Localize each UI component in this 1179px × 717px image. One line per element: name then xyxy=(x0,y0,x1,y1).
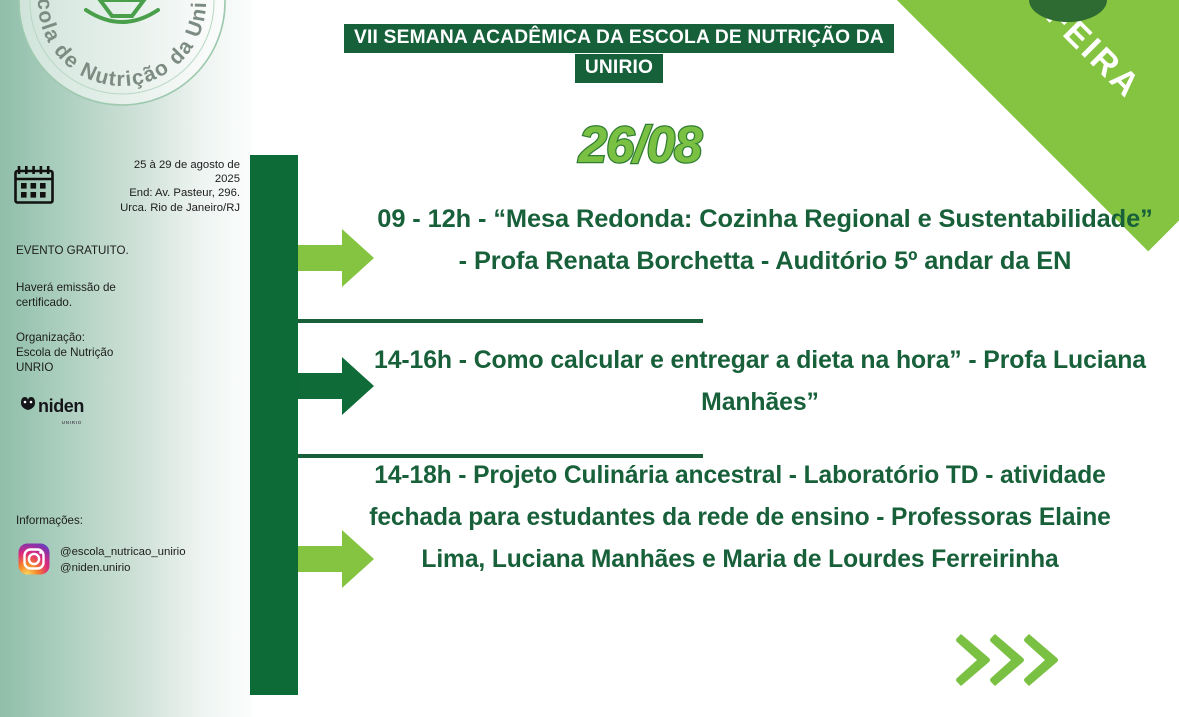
date-line-4: Urca. Rio de Janeiro/RJ xyxy=(62,201,240,215)
date-headline: 26/08 xyxy=(430,115,850,174)
event-1-text: 09 - 12h - “Mesa Redonda: Cozinha Region… xyxy=(370,198,1160,282)
certificate-note: Haverá emissão de certificado. xyxy=(16,280,231,310)
free-event-note: EVENTO GRATUITO. xyxy=(16,243,231,258)
instagram-icon[interactable] xyxy=(18,543,50,580)
niden-wordmark: niden UNIRIO xyxy=(38,397,84,415)
niden-name: niden xyxy=(38,396,84,416)
escola-nutricao-logo: Escola de Nutrição da Unirio xyxy=(8,0,236,116)
banner: VII SEMANA ACADÊMICA DA ESCOLA DE NUTRIÇ… xyxy=(305,24,933,83)
event-separator-1 xyxy=(298,319,703,323)
date-address-text: 25 à 29 de agosto de 2025 End: Av. Paste… xyxy=(56,158,240,215)
banner-title-line-1: VII SEMANA ACADÊMICA DA ESCOLA DE NUTRIÇ… xyxy=(344,24,894,53)
vertical-accent-bar xyxy=(250,155,298,695)
poster-root: Escola de Nutrição da Unirio xyxy=(0,0,1179,717)
chevron-triple-icon xyxy=(955,634,1095,686)
niden-mark-icon xyxy=(20,395,38,416)
date-line-2: 2025 xyxy=(62,172,240,186)
ribbon-label: FEIRA xyxy=(952,0,1179,193)
banner-title-line-2: UNIRIO xyxy=(575,54,663,83)
date-line-3: End: Av. Pasteur, 296. xyxy=(62,186,240,200)
event-2-text: 14-16h - Como calcular e entregar a diet… xyxy=(370,340,1150,424)
niden-subtitle: UNIRIO xyxy=(62,414,82,432)
event-date-address-block: 25 à 29 de agosto de 2025 End: Av. Paste… xyxy=(12,158,240,215)
arrow-icon-event-2 xyxy=(298,355,374,417)
sidebar: Escola de Nutrição da Unirio xyxy=(0,0,252,717)
calendar-icon xyxy=(12,158,56,211)
instagram-handles: @escola_nutricao_unirio @niden.unirio xyxy=(60,543,186,576)
date-line-1: 25 à 29 de agosto de xyxy=(62,158,240,172)
arrow-icon-event-1 xyxy=(298,227,374,289)
info-label: Informações: xyxy=(16,513,231,528)
instagram-block[interactable]: @escola_nutricao_unirio @niden.unirio xyxy=(18,543,186,580)
event-3-text: 14-18h - Projeto Culinária ancestral - L… xyxy=(360,455,1120,581)
organizer-note: Organização: Escola de Nutrição UNRIO xyxy=(16,330,231,375)
niden-logo: niden UNIRIO xyxy=(20,395,84,416)
